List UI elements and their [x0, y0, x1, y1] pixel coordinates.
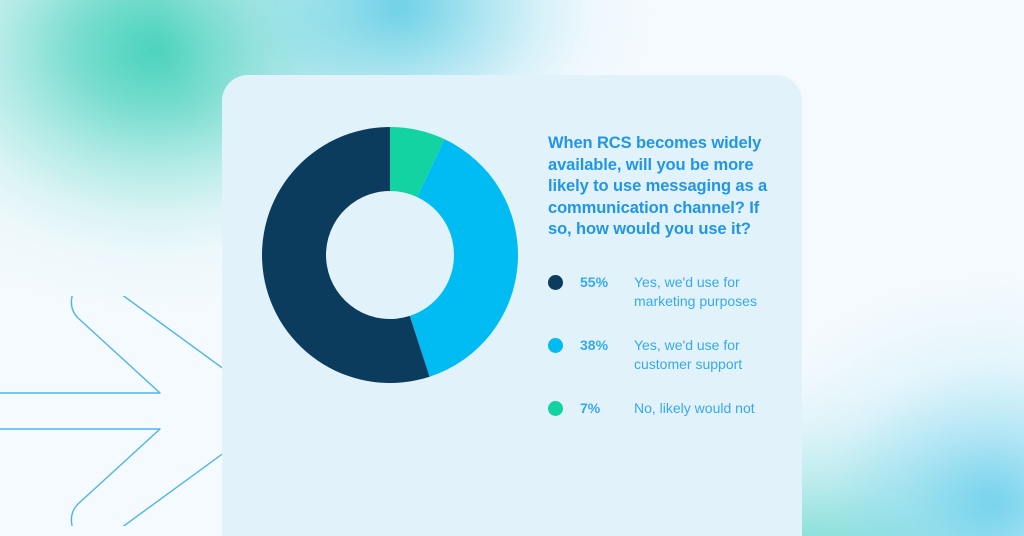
legend-item-marketing[interactable]: 55% Yes, we'd use for marketing purposes: [548, 273, 778, 312]
legend-swatch-support: [548, 338, 563, 353]
chart-info-panel: When RCS becomes widely available, will …: [548, 133, 778, 418]
donut-center-hole: [326, 191, 453, 318]
legend-item-support[interactable]: 38% Yes, we'd use for customer support: [548, 336, 778, 375]
legend-percent-support: 38%: [580, 336, 634, 356]
legend-label-marketing: Yes, we'd use for marketing purposes: [634, 273, 778, 312]
stat-card: When RCS becomes widely available, will …: [222, 75, 802, 536]
legend-swatch-no: [548, 401, 563, 416]
legend-label-no: No, likely would not: [634, 399, 755, 419]
legend-item-no[interactable]: 7% No, likely would not: [548, 399, 778, 419]
donut-chart: [262, 127, 518, 383]
slide-canvas: When RCS becomes widely available, will …: [0, 0, 1024, 536]
chart-question-title: When RCS becomes widely available, will …: [548, 133, 778, 241]
legend-label-support: Yes, we'd use for customer support: [634, 336, 778, 375]
chart-legend: 55% Yes, we'd use for marketing purposes…: [548, 273, 778, 419]
legend-percent-no: 7%: [580, 399, 634, 419]
legend-swatch-marketing: [548, 275, 563, 290]
legend-percent-marketing: 55%: [580, 273, 634, 293]
